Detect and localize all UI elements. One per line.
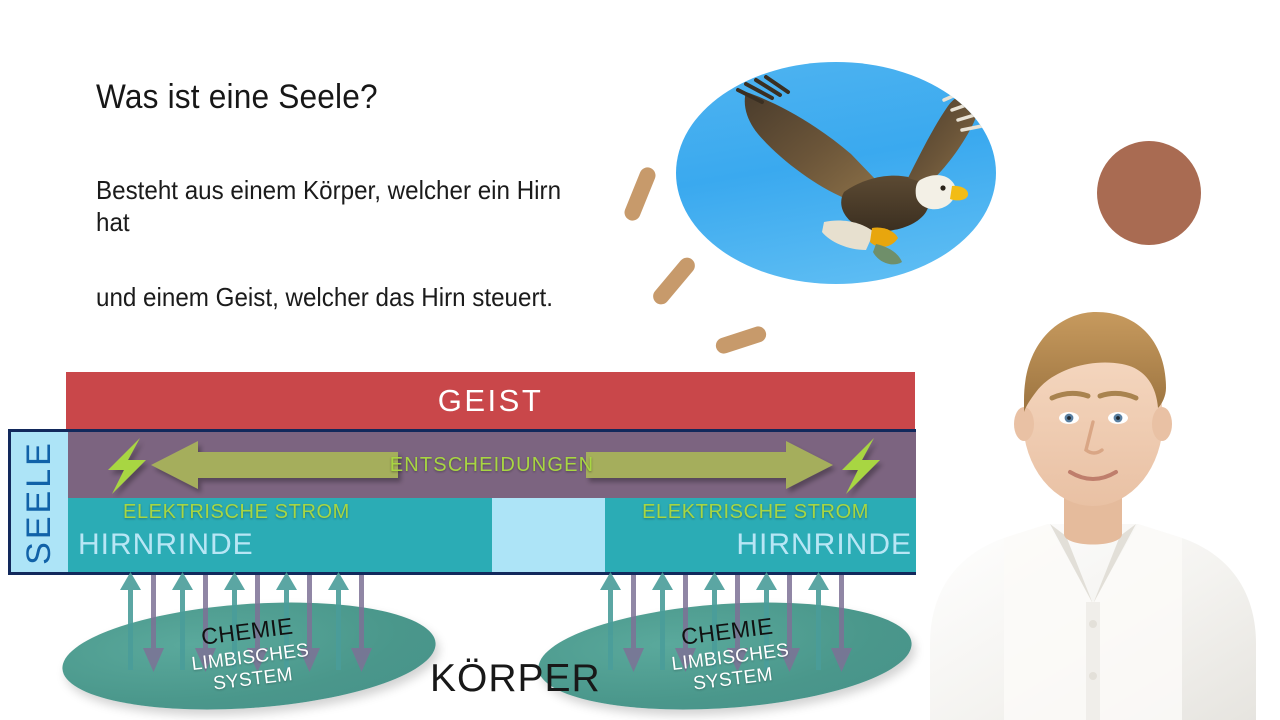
hirnrinde-label-left: HIRNRINDE [78,528,254,562]
page-title: Was ist eine Seele? [96,78,378,117]
geist-label: GEIST [438,383,544,419]
geist-band: GEIST [66,372,915,429]
lightning-bolt-left-icon [108,438,146,494]
entscheidungen-band: ENTSCHEIDUNGEN [68,432,916,498]
body-paragraph-1: Besteht aus einem Körper, welcher ein Hi… [96,175,580,238]
presenter-avatar [900,272,1280,720]
seele-label-container: SEELE [11,432,68,572]
korper-label: KÖRPER [430,657,601,701]
seele-frame: SEELE [8,429,916,575]
hirnrinde-center-gap [492,498,605,572]
body-paragraph-2: und einem Geist, welcher das Hirn steuer… [96,282,580,314]
decor-dash-3 [714,324,768,355]
decor-dash-1 [622,165,658,223]
decor-circle [1097,141,1201,245]
arrow-right-icon [586,441,833,489]
elektrische-strom-label-left: ELEKTRISCHE STROM [123,501,350,524]
hirnrinde-band: ELEKTRISCHE STROM ELEKTRISCHE STROM HIRN… [68,498,916,572]
hirnrinde-label-right: HIRNRINDE [736,528,912,562]
bald-eagle-icon [676,62,996,284]
arrow-left-icon [151,441,398,489]
elektrische-strom-label-right: ELEKTRISCHE STROM [642,501,869,524]
lightning-bolt-right-icon [842,438,880,494]
seele-label: SEELE [20,440,59,565]
chemie-ellipse-left [59,591,439,720]
eagle-photo-ellipse [676,62,996,284]
decision-arrows-group [68,432,916,498]
slide-canvas: Was ist eine Seele? Besteht aus einem Kö… [0,0,1280,720]
